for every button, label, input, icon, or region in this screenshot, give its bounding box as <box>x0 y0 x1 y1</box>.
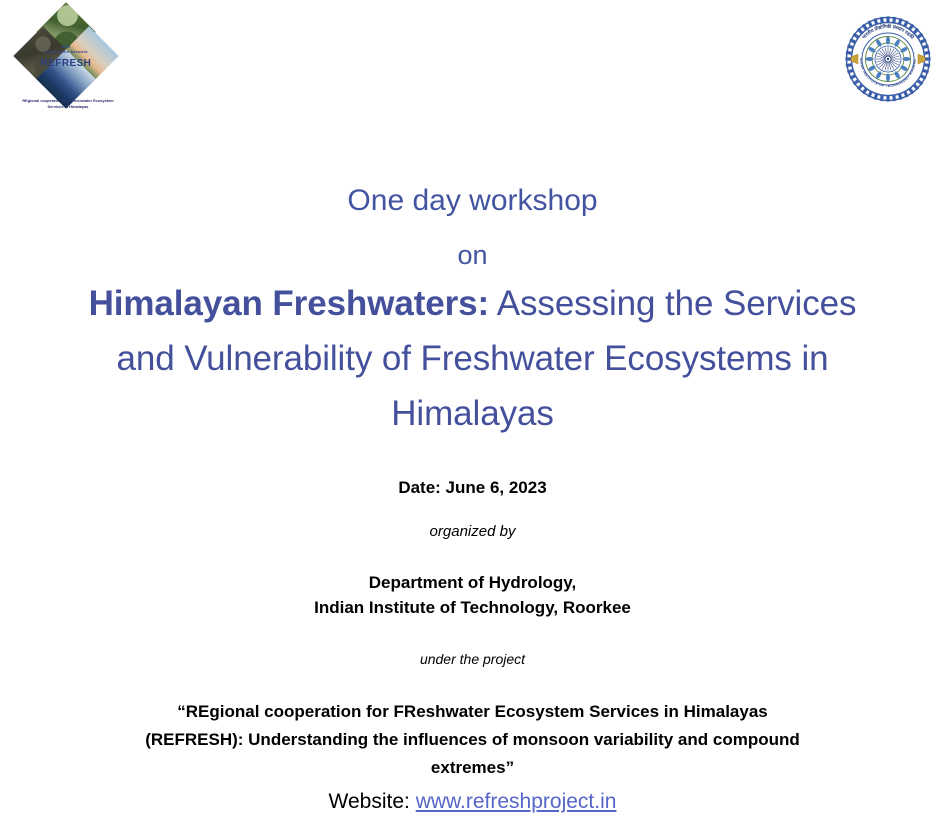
website-link[interactable]: www.refreshproject.in <box>416 790 617 813</box>
refresh-caption-line-1: REgional cooperation for FReshwater Ecos… <box>14 98 122 104</box>
website-label: Website: <box>329 790 416 813</box>
under-project-label: under the project <box>0 650 945 669</box>
event-date: Date: June 6, 2023 <box>0 477 945 499</box>
project-title-line-3: extremes” <box>95 754 850 782</box>
flyer-page: APN Asia-Pacific Network REFRESH REgiona… <box>0 0 945 837</box>
refresh-logo-caption: REgional cooperation for FReshwater Ecos… <box>14 98 122 109</box>
iit-roorkee-seal: भारतीय प्रौद्योगिकी संस्थान रुड़की INDIA… <box>843 14 933 104</box>
on-connector: on <box>0 238 945 272</box>
refresh-project-logo: APN Asia-Pacific Network REFRESH REgiona… <box>14 14 122 114</box>
refresh-diamond-photos: APN Asia-Pacific Network REFRESH <box>20 14 112 94</box>
page-title-emphasis: Himalayan Freshwaters: <box>89 284 489 323</box>
refresh-caption-line-2: Services in Himalayas <box>14 104 122 110</box>
workshop-subtitle: One day workshop <box>0 182 945 220</box>
organizer-affiliation: Department of Hydrology, Indian Institut… <box>0 570 945 620</box>
website-line: Website: www.refreshproject.in <box>0 788 945 816</box>
organizer-institute: Indian Institute of Technology, Roorkee <box>0 595 945 620</box>
project-title-line-2: (REFRESH): Understanding the influences … <box>95 726 850 754</box>
organizer-department: Department of Hydrology, <box>0 570 945 595</box>
organized-by-label: organized by <box>0 522 945 542</box>
project-title: “REgional cooperation for FReshwater Eco… <box>95 698 850 782</box>
page-title: Himalayan Freshwaters: Assessing the Ser… <box>72 276 873 441</box>
project-title-line-1: “REgional cooperation for FReshwater Eco… <box>95 698 850 726</box>
